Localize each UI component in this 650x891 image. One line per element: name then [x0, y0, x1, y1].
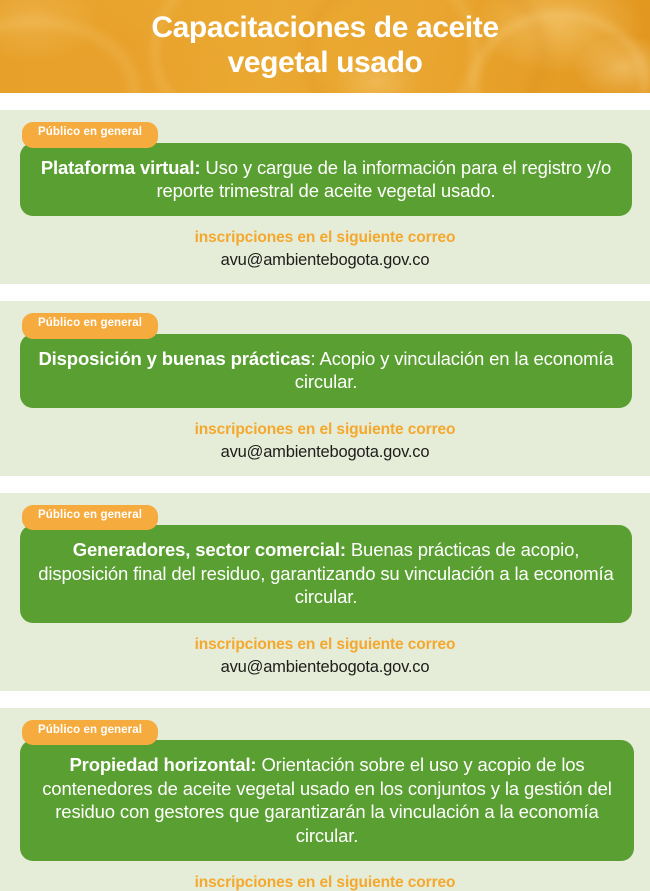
- signup-label: inscripciones en el siguiente correo: [0, 421, 650, 439]
- poster-page: Capacitaciones de aceite vegetal usado P…: [0, 0, 650, 891]
- poster-header: Capacitaciones de aceite vegetal usado: [0, 0, 650, 93]
- training-description: : Acopio y vinculación en la economía ci…: [295, 348, 614, 392]
- training-title: Plataforma virtual:: [41, 157, 201, 178]
- training-description-box: Generadores, sector comercial: Buenas pr…: [20, 525, 632, 622]
- contact-email[interactable]: avu@ambientebogota.gov.co: [0, 443, 650, 462]
- training-card: Público en general Propiedad horizontal:…: [0, 708, 650, 891]
- training-card: Público en general Disposición y buenas …: [0, 301, 650, 475]
- training-card: Público en general Generadores, sector c…: [0, 493, 650, 691]
- training-title: Propiedad horizontal:: [69, 754, 256, 775]
- contact-email[interactable]: avu@ambientebogota.gov.co: [0, 251, 650, 270]
- training-description: Uso y cargue de la información para el r…: [156, 157, 611, 201]
- audience-badge: Público en general: [22, 720, 158, 746]
- audience-badge: Público en general: [22, 313, 158, 339]
- training-description-box: Disposición y buenas prácticas: Acopio y…: [20, 334, 632, 408]
- signup-label: inscripciones en el siguiente correo: [0, 874, 650, 891]
- signup-label: inscripciones en el siguiente correo: [0, 229, 650, 247]
- training-title: Disposición y buenas prácticas: [38, 348, 310, 369]
- training-description-box: Plataforma virtual: Uso y cargue de la i…: [20, 143, 632, 217]
- page-title: Capacitaciones de aceite vegetal usado: [0, 0, 650, 81]
- training-title: Generadores, sector comercial:: [73, 539, 346, 560]
- signup-label: inscripciones en el siguiente correo: [0, 636, 650, 654]
- training-description-box: Propiedad horizontal: Orientación sobre …: [20, 740, 634, 861]
- training-card: Público en general Plataforma virtual: U…: [0, 110, 650, 284]
- audience-badge: Público en general: [22, 505, 158, 531]
- contact-email[interactable]: avu@ambientebogota.gov.co: [0, 658, 650, 677]
- training-card-list: Público en general Plataforma virtual: U…: [0, 110, 650, 891]
- audience-badge: Público en general: [22, 122, 158, 148]
